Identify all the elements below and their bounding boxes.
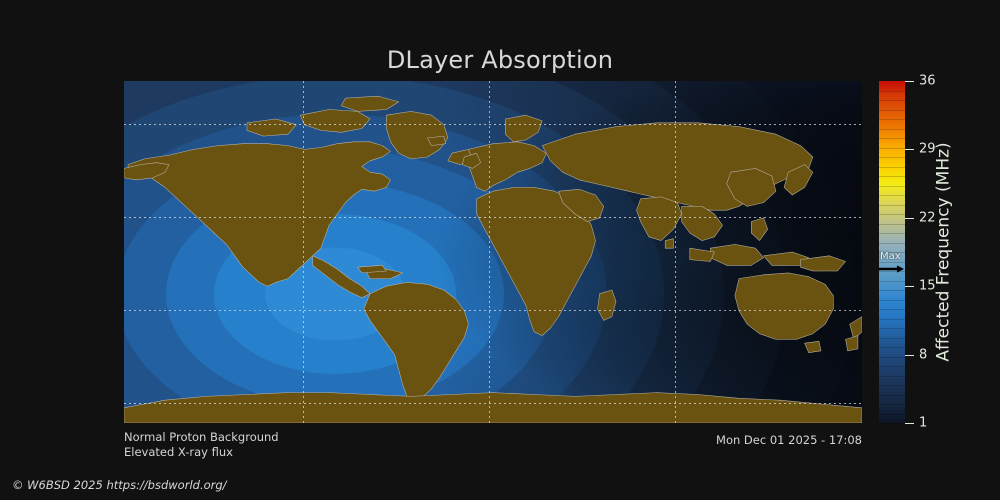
colorbar-tick	[905, 286, 914, 287]
colorbar-tick	[905, 149, 914, 150]
arrow-right-icon	[879, 265, 905, 273]
colorbar-axis-label-text: Affected Frequency (MHz)	[934, 142, 954, 361]
gridline-lon-60	[675, 81, 676, 423]
gridline-lon-m60	[303, 81, 304, 423]
colorbar-tick-label: 8	[919, 347, 927, 362]
dlayer-absorption-app: DLayer Absorption	[0, 0, 1000, 500]
copyright-footer: © W6BSD 2025 https://bsdworld.org/	[12, 478, 227, 492]
gridline-lat-30	[124, 217, 862, 218]
colorbar-tick	[905, 355, 914, 356]
colorbar-tick	[905, 423, 914, 424]
colorbar-axis-label: Affected Frequency (MHz)	[932, 81, 956, 423]
gridline-lon-0	[489, 81, 490, 423]
colorbar-max-label: Max	[880, 252, 901, 262]
colorbar-tick-label: 1	[919, 416, 927, 431]
colorbar-tick	[905, 218, 914, 219]
colorbar-tick	[905, 81, 914, 82]
graticule	[124, 81, 862, 423]
status-proton-background: Normal Proton Background	[124, 430, 279, 444]
world-map[interactable]	[124, 81, 862, 423]
colorbar-max-marker: Max	[879, 254, 905, 280]
gridline-lat-60	[124, 124, 862, 125]
timestamp: Mon Dec 01 2025 - 17:08	[716, 433, 862, 447]
status-xray-flux: Elevated X-ray flux	[124, 445, 233, 459]
gridline-lat-m30	[124, 403, 862, 404]
gridline-lat-0	[124, 310, 862, 311]
page-title: DLayer Absorption	[0, 46, 1000, 74]
